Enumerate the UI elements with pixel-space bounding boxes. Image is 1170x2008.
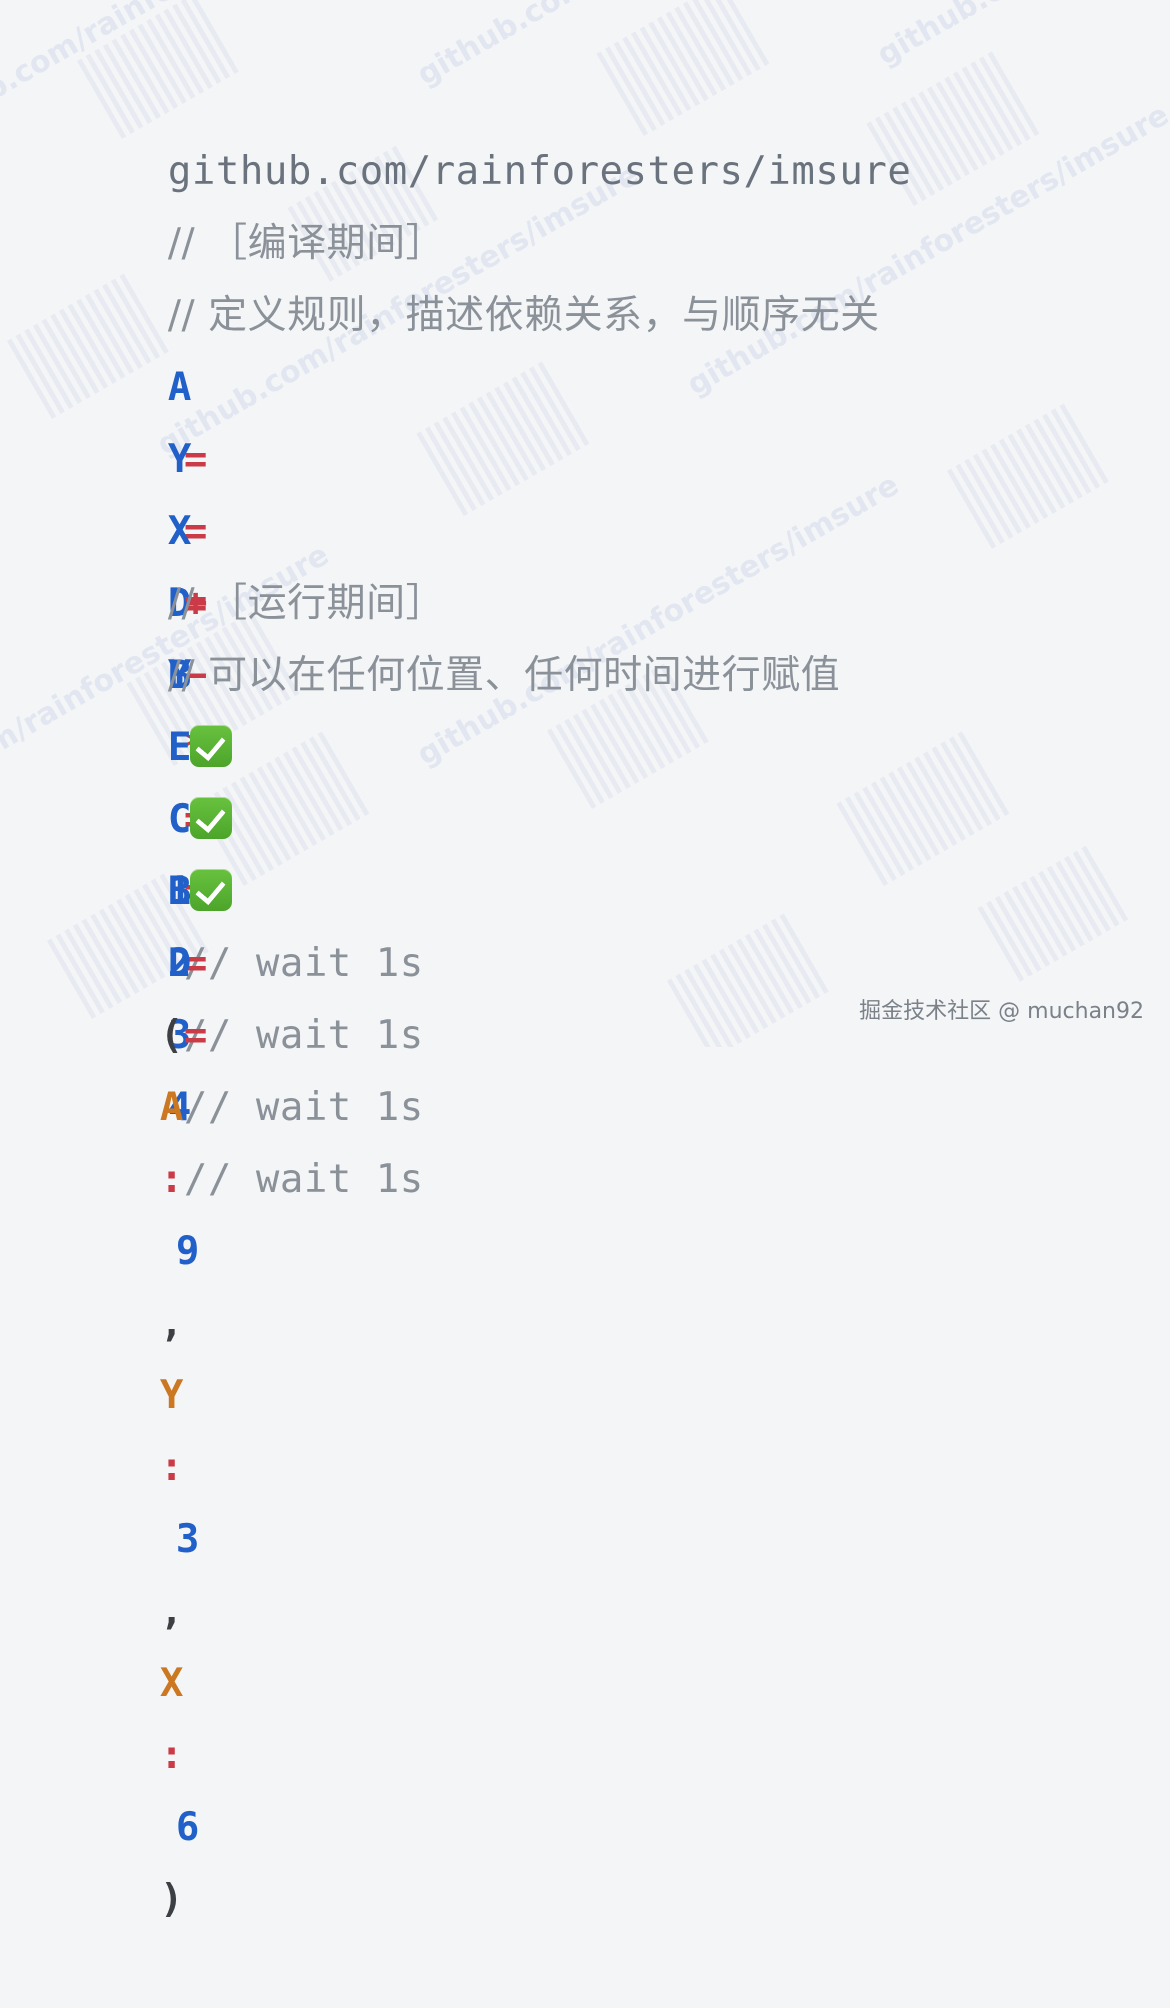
check-icon [190,725,232,767]
result-close-paren: ) [160,1877,184,1922]
rule-lhs: A [168,365,192,410]
result-colon: : [160,1733,184,1778]
result-separator: , [160,1589,184,1634]
comment-compile-phase: // ［编译期间］ [168,221,445,266]
footer-credit: 掘金技术社区 @ muchan92 [859,993,1144,1025]
result-open-paren: ( [160,1013,184,1058]
code-line-repo-url: github.com/rainforesters/imsure [72,64,911,136]
watermark-hatch [947,401,1113,549]
comment-compile-desc: // 定义规则，描述依赖关系，与顺序无关 [168,293,880,338]
result-key: A [160,1085,184,1130]
check-icon [190,797,232,839]
result-key: X [160,1661,184,1706]
rule-lhs: X [168,509,192,554]
result-separator: , [160,1301,184,1346]
repo-url-text: github.com/rainforesters/imsure [168,149,911,194]
comment-runtime-phase: // ［运行期间］ [168,581,445,626]
comment-runtime-desc: // 可以在任何位置、任何时间进行赋值 [168,653,840,698]
rule-lhs: Y [168,437,192,482]
code-line-rule: Y = D − E [72,352,911,424]
assignment-lhs: E [168,725,192,770]
check-icon [190,869,232,911]
assignment-lhs: B [168,869,192,914]
result-colon: : [160,1445,184,1490]
result-value: 9 [176,1229,200,1274]
assignment-lhs: C [168,797,192,842]
code-block: github.com/rainforesters/imsure // ［编译期间… [72,64,911,1000]
result-key: Y [160,1373,184,1418]
assignment-comment: // wait 1s [184,1157,424,1202]
result-colon: : [160,1157,184,1202]
assignment-comment: // wait 1s [184,1085,424,1130]
watermark-hatch [977,843,1132,982]
result-value: 3 [176,1517,200,1562]
watermark-text: github.com/rainforesters/imsure [871,0,1170,73]
assignment-equals: = [184,1013,208,1058]
result-value: 6 [176,1805,200,1850]
assignment-lhs: D [168,941,192,986]
